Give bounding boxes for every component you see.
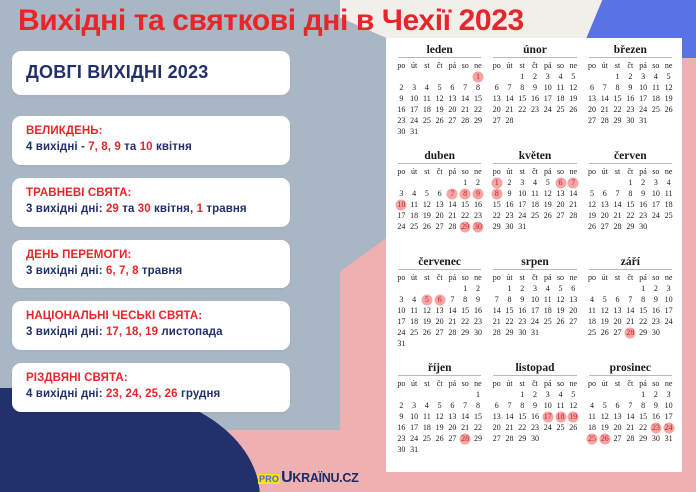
holiday-text: та [119,203,138,215]
calendar-day: 29 [472,433,485,444]
calendar-week-row: 20212223242526 [586,104,675,115]
calendar-day: 3 [529,283,542,294]
calendar-empty-cell [446,444,459,455]
calendar-month: březenpoútstčtpásone 1234567891011121314… [583,44,678,150]
calendar-day: 22 [624,210,637,221]
calendar-week-row: 12 [395,177,484,188]
calendar-day: 28 [446,221,459,232]
weekday-label: út [408,272,421,283]
calendar-day: 21 [446,316,459,327]
weekday-header-row: poútstčtpásone [395,378,484,389]
calendar-day: 1 [624,177,637,188]
calendar-empty-cell [408,71,421,82]
calendar-day: 4 [421,400,434,411]
calendar-empty-cell [408,177,421,188]
calendar-week-row: 2728 [490,115,579,126]
calendar-day: 1 [637,389,650,400]
calendar-empty-cell [446,126,459,137]
calendar-day: 15 [459,305,472,316]
calendar-day: 26 [421,221,434,232]
calendar-day: 18 [662,199,675,210]
calendar-day: 10 [541,400,554,411]
calendar-day: 11 [586,411,599,422]
calendar-day: 4 [649,71,662,82]
weekday-header-row: poútstčtpásone [490,378,579,389]
calendar-empty-cell [433,444,446,455]
calendar-day-holiday: 10 [395,199,408,210]
site-logo[interactable]: PRO UKRAÏNU.CZ [258,470,358,486]
calendar-day-holiday: 18 [554,411,567,422]
weekday-label: pá [446,272,459,283]
weekday-label: so [649,166,662,177]
calendar-day: 21 [611,210,624,221]
calendar-empty-cell [421,283,434,294]
calendar-empty-cell [433,177,446,188]
weekday-header-row: poútstčtpásone [586,272,675,283]
calendar-day: 27 [433,221,446,232]
weekday-label: čt [529,378,542,389]
holiday-card-body: 4 вихідні - 7, 8, 9 та 10 квітня [26,141,276,155]
calendar-week-row: 23242526272829 [395,433,484,444]
calendar-day: 2 [516,283,529,294]
weekday-label: pá [637,166,650,177]
calendar-day: 19 [433,422,446,433]
calendar-empty-cell [586,177,599,188]
calendar-day: 16 [516,305,529,316]
calendar-day: 4 [408,294,421,305]
month-name: květen [493,150,576,164]
weekday-label: út [503,60,516,71]
calendar-day: 18 [421,104,434,115]
holiday-card-title: НАЦІОНАЛЬНІ ЧЕСЬКІ СВЯТА: [26,310,276,322]
holiday-dates: 17, 18, 19 [106,326,158,338]
calendar-day: 10 [662,294,675,305]
calendar-empty-cell [541,327,554,338]
holiday-card: ТРАВНЕВІ СВЯТА:3 вихідні дні: 29 та 30 к… [12,178,290,227]
calendar-day: 7 [459,400,472,411]
month-name: srpen [493,256,576,270]
calendar-day: 5 [433,82,446,93]
calendar-day: 28 [567,210,580,221]
calendar-day: 6 [490,400,503,411]
calendar-day: 30 [503,221,516,232]
calendar-empty-cell [433,389,446,400]
weekday-label: po [586,166,599,177]
calendar-day: 13 [446,93,459,104]
weekday-label: so [554,272,567,283]
weekday-label: ne [472,166,485,177]
calendar-day: 9 [624,82,637,93]
weekday-label: pá [637,378,650,389]
calendar-day-holiday: 25 [586,433,599,444]
calendar-week-row: 27282930 [490,433,579,444]
calendar-day: 28 [503,115,516,126]
calendar-week-row: 1234 [586,177,675,188]
calendar-day: 30 [516,327,529,338]
holiday-text: 4 вихідні дні: [26,388,106,400]
calendar-empty-cell [649,115,662,126]
month-name: duben [398,150,481,164]
calendar-week-row: 567891011 [586,188,675,199]
calendar-day: 4 [554,71,567,82]
calendar-day: 7 [611,188,624,199]
month-name: únor [493,44,576,58]
calendar-day: 11 [554,82,567,93]
calendar-week-row: 1234567 [490,177,579,188]
calendar-day: 22 [472,104,485,115]
calendar-day: 3 [662,389,675,400]
weekday-label: st [611,272,624,283]
weekday-label: ne [472,60,485,71]
calendar-day: 1 [637,283,650,294]
calendar-day: 16 [529,93,542,104]
calendar-week-row: 6789101112 [586,82,675,93]
calendar-day: 18 [649,93,662,104]
weekday-label: út [503,378,516,389]
calendar-day: 8 [637,294,650,305]
weekday-label: út [598,272,611,283]
calendar-day: 29 [624,221,637,232]
calendar-day: 9 [395,411,408,422]
calendar-day: 28 [490,327,503,338]
calendar-week-row: 12131415161718 [586,199,675,210]
long-weekends-label: ДОВГІ ВИХІДНІ 2023 [26,62,276,83]
weekday-label: út [598,166,611,177]
calendar-day: 8 [472,400,485,411]
calendar-empty-cell [529,115,542,126]
calendar-day: 19 [554,305,567,316]
calendar-day: 20 [490,104,503,115]
calendar-day: 13 [554,188,567,199]
calendar-day: 21 [624,316,637,327]
calendar-day: 16 [472,199,485,210]
calendar-day: 4 [586,294,599,305]
calendar-day: 13 [490,93,503,104]
calendar-empty-cell [624,283,637,294]
calendar-day: 31 [637,115,650,126]
calendar-day: 15 [472,411,485,422]
calendar-day: 15 [624,199,637,210]
calendar-day: 15 [637,305,650,316]
calendar-day: 7 [446,294,459,305]
calendar-day: 9 [503,188,516,199]
calendar-day: 13 [586,93,599,104]
calendar-day: 11 [541,294,554,305]
calendar-empty-cell [459,71,472,82]
calendar-empty-cell [490,283,503,294]
calendar-day: 14 [459,93,472,104]
calendar-week-row: 10111213141516 [395,199,484,210]
infographic-root: Вихідні та святкові дні в Чехії 2023 ДОВ… [0,0,696,492]
calendar-day: 25 [529,210,542,221]
calendar-day: 17 [662,411,675,422]
calendar-day: 7 [624,400,637,411]
holiday-dates: 6, 7, 8 [106,265,139,277]
weekday-label: so [459,272,472,283]
calendar-day: 7 [459,82,472,93]
weekday-label: ne [567,378,580,389]
weekday-label: ne [567,60,580,71]
calendar-day: 7 [503,82,516,93]
calendar-day: 8 [516,400,529,411]
calendar-week-row: 13141516171819 [490,93,579,104]
calendar-empty-cell [541,115,554,126]
calendar-day-holiday: 6 [433,294,446,305]
calendar-day: 9 [649,400,662,411]
calendar-day: 26 [433,115,446,126]
calendar-week-row: 11121314151617 [586,305,675,316]
calendar-day-holiday: 28 [624,327,637,338]
calendar-day: 30 [529,433,542,444]
calendar-day: 18 [586,422,599,433]
calendar-day: 30 [624,115,637,126]
calendar-empty-cell [433,126,446,137]
calendar-week-row: 17181920212223 [395,316,484,327]
calendar-day: 21 [459,104,472,115]
calendar-day: 23 [516,316,529,327]
calendar-day: 24 [662,316,675,327]
calendar-day: 2 [472,283,485,294]
calendar-day: 20 [433,316,446,327]
calendar-day: 29 [472,115,485,126]
calendar-empty-cell [567,115,580,126]
calendar-day: 26 [586,221,599,232]
calendar-day: 19 [567,93,580,104]
calendar-day: 30 [637,221,650,232]
calendar-day-holiday: 17 [541,411,554,422]
calendar-empty-cell [598,177,611,188]
holiday-text: та [121,141,140,153]
calendar-day: 10 [408,93,421,104]
holiday-text: квітня, [151,203,197,215]
calendar-day: 1 [503,283,516,294]
weekday-header-row: poútstčtpásone [490,60,579,71]
calendar-day: 4 [541,283,554,294]
calendar-day: 18 [529,199,542,210]
calendar-week-row: 12345 [490,71,579,82]
calendar-day: 23 [472,210,485,221]
calendar-day: 16 [395,104,408,115]
calendar-day: 3 [516,177,529,188]
calendar-day: 28 [598,115,611,126]
calendar-day: 16 [529,411,542,422]
calendar-day-holiday: 28 [459,433,472,444]
calendar-day: 1 [459,177,472,188]
calendar-day: 12 [421,305,434,316]
calendar-day: 23 [503,210,516,221]
calendar-day: 26 [567,422,580,433]
calendar-day: 14 [611,199,624,210]
calendar-empty-cell [472,126,485,137]
calendar-day: 20 [611,316,624,327]
weekday-label: po [395,272,408,283]
calendar-day: 24 [408,433,421,444]
calendar-empty-cell [586,71,599,82]
calendar-day-holiday: 1 [490,177,503,188]
calendar-day: 22 [637,422,650,433]
holiday-dates: 29 [106,203,119,215]
calendar-day: 22 [459,210,472,221]
calendar-day: 30 [395,444,408,455]
calendar-empty-cell [662,221,675,232]
calendar-day-holiday: 24 [662,422,675,433]
calendar-day: 22 [459,316,472,327]
calendar-day: 5 [598,400,611,411]
calendar-empty-cell [554,221,567,232]
calendar-day: 15 [516,93,529,104]
calendar-day: 14 [503,411,516,422]
weekday-label: po [490,378,503,389]
calendar-week-row: 252627282930 [586,327,675,338]
weekday-label: po [490,60,503,71]
calendar-day: 13 [598,199,611,210]
calendar-empty-cell [433,283,446,294]
calendar-week-row: 31 [395,338,484,349]
calendar-empty-cell [490,71,503,82]
calendar-day: 8 [637,400,650,411]
calendar-day-holiday: 8 [459,188,472,199]
calendar-empty-cell [611,177,624,188]
holiday-text: 3 вихідні дні: [26,326,106,338]
calendar-empty-cell [649,221,662,232]
calendar-day: 23 [395,115,408,126]
calendar-day: 30 [472,327,485,338]
calendar-day: 5 [541,177,554,188]
calendar-empty-cell [395,177,408,188]
holiday-text: листопада [158,326,223,338]
calendar-week-row: 19202122232425 [586,210,675,221]
weekday-label: pá [446,60,459,71]
calendar-day-holiday: 1 [472,71,485,82]
weekday-label: st [611,166,624,177]
calendar-week-row: 6789101112 [490,82,579,93]
weekday-label: st [516,272,529,283]
calendar-week-row: 18192021222324 [586,422,675,433]
holiday-text: 3 вихідні дні: [26,265,106,277]
calendar-day: 25 [586,327,599,338]
calendar-day: 13 [611,411,624,422]
calendar-day: 20 [611,422,624,433]
calendar-day: 30 [649,327,662,338]
calendar-empty-cell [490,389,503,400]
calendar-day: 31 [408,126,421,137]
calendar-day: 27 [490,115,503,126]
calendar-day: 24 [395,327,408,338]
calendar-day: 21 [567,199,580,210]
calendar-day: 15 [637,411,650,422]
logo-main-text: UKRAÏNU.CZ [281,470,358,486]
calendar-day: 21 [598,104,611,115]
holiday-dates: 10 [140,141,153,153]
calendar-day: 14 [490,305,503,316]
weekday-label: čt [624,272,637,283]
calendar-empty-cell [662,327,675,338]
calendar-empty-cell [598,389,611,400]
calendar-day: 17 [395,316,408,327]
calendar-day: 11 [554,400,567,411]
calendar-empty-cell [421,71,434,82]
calendar-day: 19 [433,104,446,115]
calendar-empty-cell [433,71,446,82]
calendar-day: 25 [662,210,675,221]
calendar-day: 26 [598,327,611,338]
calendar-day: 29 [637,327,650,338]
calendar-week-row: 9101112131415 [395,411,484,422]
calendar-day: 4 [554,389,567,400]
calendar-week-row: 13141516171819 [586,93,675,104]
weekday-label: pá [446,166,459,177]
holiday-dates: 30 [138,203,151,215]
calendar-week-row: 24252627282930 [395,327,484,338]
calendar-day: 13 [446,411,459,422]
month-name: červen [589,150,672,164]
weekday-label: čt [433,60,446,71]
calendar-empty-cell [567,433,580,444]
calendar-empty-cell [529,221,542,232]
calendar-day: 8 [516,82,529,93]
calendar-empty-cell [446,389,459,400]
calendar-day: 10 [395,305,408,316]
calendar-day: 9 [529,82,542,93]
calendar-day: 27 [446,433,459,444]
weekday-label: po [395,60,408,71]
calendar-month: červenecpoútstčtpásone 12345678910111213… [392,256,487,362]
calendar-empty-cell [503,389,516,400]
calendar-day: 12 [598,411,611,422]
calendar-day: 14 [624,411,637,422]
calendar-empty-cell [459,338,472,349]
calendar-day: 14 [624,305,637,316]
holiday-text: 4 вихідні - [26,141,88,153]
calendar-day: 12 [586,199,599,210]
logo-pro-text: PRO [258,474,280,484]
calendar-empty-cell [446,338,459,349]
calendar-day-holiday: 26 [598,433,611,444]
calendar-day: 11 [421,93,434,104]
calendar-empty-cell [611,283,624,294]
calendar-day: 13 [433,199,446,210]
calendar-day: 10 [541,82,554,93]
calendar-empty-cell [516,115,529,126]
holiday-card-body: 4 вихідні дні: 23, 24, 25, 26 грудня [26,388,276,402]
calendar-day: 9 [395,93,408,104]
calendar-empty-cell [446,177,459,188]
calendar-week-row: 16171819202122 [395,104,484,115]
calendar-day: 17 [408,104,421,115]
holiday-text: травня [203,203,247,215]
calendar-day: 10 [516,188,529,199]
calendar-day: 3 [649,177,662,188]
calendar-day: 24 [516,210,529,221]
calendar-day: 2 [529,71,542,82]
calendar-empty-cell [395,283,408,294]
calendar-empty-cell [598,71,611,82]
calendar-day: 16 [503,199,516,210]
holiday-card-body: 3 вихідні дні: 29 та 30 квітня, 1 травня [26,203,276,217]
calendar-day: 24 [529,316,542,327]
weekday-label: so [649,378,662,389]
calendar-day: 29 [459,327,472,338]
calendar-empty-cell [586,283,599,294]
calendar-week-row: 12 [395,283,484,294]
calendar-day: 17 [649,199,662,210]
calendar-week-row: 45678910 [586,294,675,305]
calendar-day: 28 [503,433,516,444]
calendar-empty-cell [567,327,580,338]
calendar-day: 21 [503,104,516,115]
calendar-day: 15 [611,93,624,104]
calendar-day: 19 [598,422,611,433]
